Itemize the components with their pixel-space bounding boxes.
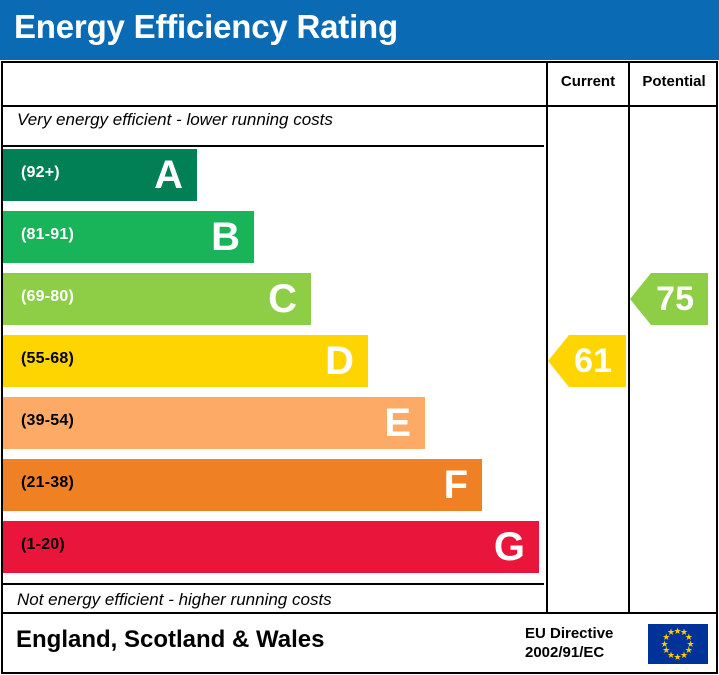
band-letter-b: B [211, 210, 240, 264]
column-divider-potential [628, 63, 630, 612]
eu-star-icon: ★ [667, 628, 675, 637]
eu-directive-line1: EU Directive [525, 624, 613, 643]
potential-rating-value: 75 [656, 282, 708, 316]
band-letter-g: G [494, 520, 525, 574]
eu-directive-line2: 2002/91/EC [525, 643, 613, 662]
caption-top: Very energy efficient - lower running co… [17, 110, 333, 130]
band-c: (69-80)C [3, 273, 311, 325]
potential-arrow-tip [630, 273, 651, 325]
band-letter-d: D [325, 334, 354, 388]
band-letter-f: F [444, 458, 468, 512]
band-a: (92+)A [3, 149, 197, 201]
column-header-current: Current [548, 73, 628, 90]
band-letter-c: C [268, 272, 297, 326]
band-letter-e: E [384, 396, 411, 450]
band-range-b: (81-91) [21, 226, 74, 244]
page-title: Energy Efficiency Rating [14, 8, 398, 46]
band-range-e: (39-54) [21, 412, 74, 430]
chart-frame: Current Potential Very energy efficient … [1, 61, 718, 614]
current-rating-value: 61 [574, 344, 626, 378]
band-list: (92+)A(81-91)B(69-80)C(55-68)D(39-54)E(2… [3, 147, 544, 583]
footer: England, Scotland & Wales EU Directive 2… [1, 614, 718, 674]
eu-flag-icon: ★★★★★★★★★★★★ [648, 624, 708, 664]
current-arrow-tip [548, 335, 569, 387]
potential-rating-arrow: 75 [651, 273, 708, 325]
caption-bottom-divider [3, 583, 544, 585]
eu-directive: EU Directive 2002/91/EC [525, 624, 613, 662]
column-header-potential: Potential [630, 73, 718, 90]
title-bar: Energy Efficiency Rating [0, 0, 719, 60]
band-range-f: (21-38) [21, 474, 74, 492]
band-range-d: (55-68) [21, 350, 74, 368]
band-range-g: (1-20) [21, 536, 65, 554]
band-g: (1-20)G [3, 521, 539, 573]
caption-bottom: Not energy efficient - higher running co… [17, 590, 332, 610]
band-letter-a: A [154, 148, 183, 202]
epc-certificate: Energy Efficiency Rating Current Potenti… [0, 0, 719, 675]
band-b: (81-91)B [3, 211, 254, 263]
band-d: (55-68)D [3, 335, 368, 387]
band-f: (21-38)F [3, 459, 482, 511]
band-range-a: (92+) [21, 164, 60, 182]
band-e: (39-54)E [3, 397, 425, 449]
footer-region: England, Scotland & Wales [16, 626, 324, 654]
header-row-divider [3, 105, 716, 107]
current-rating-arrow: 61 [569, 335, 626, 387]
band-range-c: (69-80) [21, 288, 74, 306]
